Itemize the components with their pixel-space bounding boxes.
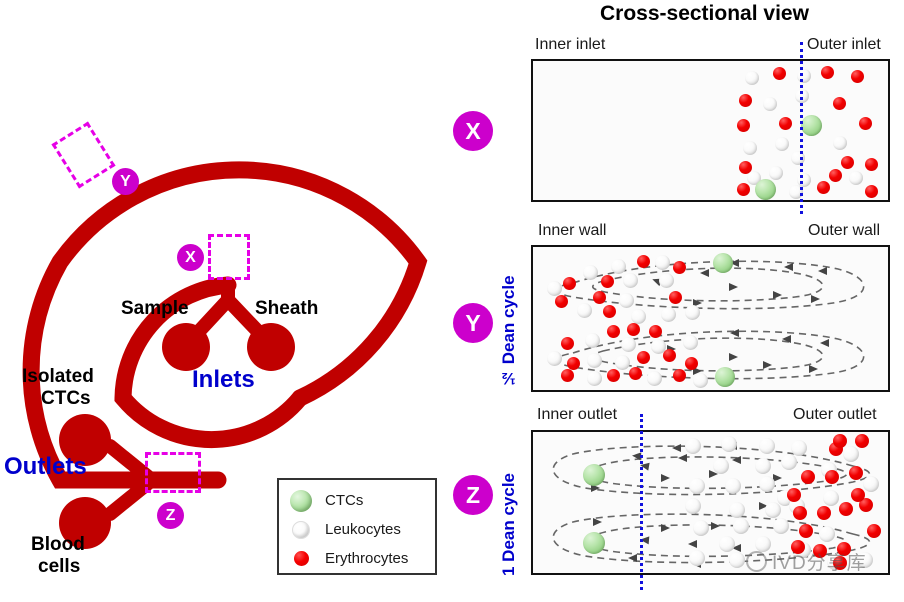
panel-y-left-label: Inner wall [538, 222, 606, 240]
outlets-label: Outlets [4, 453, 87, 481]
panel-marker-y[interactable]: Y [453, 303, 493, 343]
isolated-ctcs-label-line2: CTCs [41, 388, 91, 410]
schematic-marker-x[interactable]: X [177, 244, 204, 271]
erythrocyte-cell-icon [294, 551, 309, 566]
watermark: IVD分享库 [746, 548, 867, 575]
leukocyte-cell-icon [292, 521, 310, 539]
callout-box-x [208, 234, 250, 280]
panel-z-side-label: 1 Dean cycle [499, 430, 519, 576]
schematic-marker-z[interactable]: Z [157, 502, 184, 529]
panel-x-left-label: Inner inlet [535, 36, 605, 54]
ctc-cell-icon [290, 490, 312, 512]
legend-row-erythrocytes: Erythrocytes [279, 544, 435, 573]
panel-z-divider [640, 414, 643, 590]
panel-z-right-label: Outer outlet [793, 406, 877, 424]
isolated-ctcs-label-line1: Isolated [22, 366, 94, 388]
cell-type-legend: CTCs Leukocytes Erythrocytes [277, 478, 437, 575]
panel-y-right-label: Outer wall [808, 222, 880, 240]
legend-label-erythrocytes: Erythrocytes [325, 550, 408, 567]
watermark-text: IVD分享库 [772, 548, 867, 575]
legend-label-leukocytes: Leukocytes [325, 521, 401, 538]
legend-label-ctcs: CTCs [325, 492, 363, 509]
spiral-device-schematic: Sample Sheath Inlets Outlets Isolated CT… [0, 0, 470, 602]
schematic-marker-y[interactable]: Y [112, 168, 139, 195]
panel-marker-z[interactable]: Z [453, 475, 493, 515]
blood-cells-label-line1: Blood [31, 534, 85, 556]
panel-z-left-label: Inner outlet [537, 406, 617, 424]
panel-x-right-label: Outer inlet [807, 36, 881, 54]
inlets-label: Inlets [192, 366, 255, 394]
panel-marker-x[interactable]: X [453, 111, 493, 151]
watermark-logo-icon [746, 551, 767, 572]
panel-y-half-dean-cycle [531, 245, 890, 392]
panel-x-divider [800, 42, 803, 214]
legend-row-ctcs: CTCs [279, 486, 435, 515]
cross-sectional-view-title: Cross-sectional view [600, 2, 809, 26]
legend-row-leukocytes: Leukocytes [279, 515, 435, 544]
sample-label: Sample [121, 298, 189, 320]
panel-y-side-label: ½ Dean cycle [499, 246, 519, 388]
callout-box-z [145, 452, 201, 493]
sheath-label: Sheath [255, 298, 318, 320]
panel-x-inlet [531, 59, 890, 202]
blood-cells-label-line2: cells [38, 556, 80, 578]
